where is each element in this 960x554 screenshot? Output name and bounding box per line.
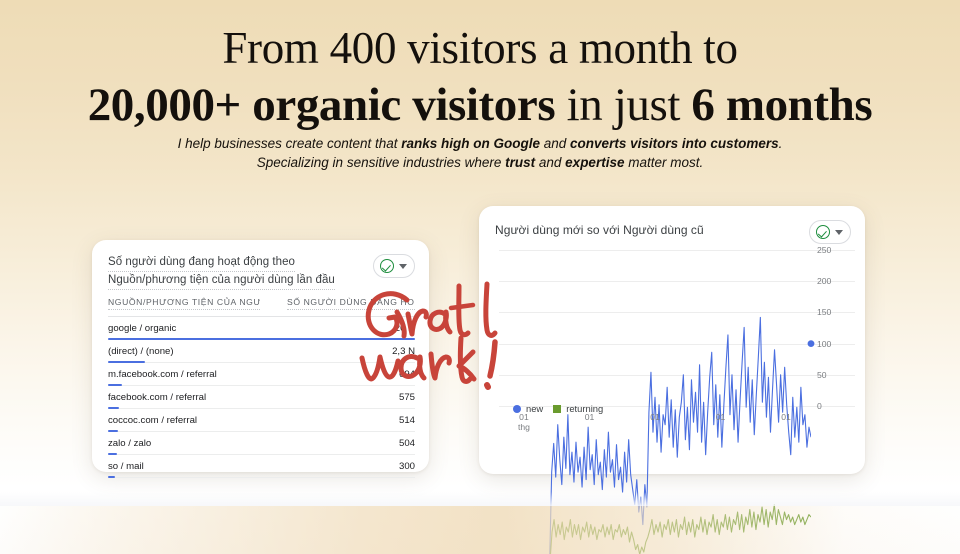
subheading-line-1: I help businesses create content that ra…	[0, 134, 960, 153]
y-axis-tick-label: 50	[817, 370, 851, 380]
sub1-e: .	[779, 136, 783, 151]
left-card-title-line-2: Nguồn/phương tiện của người dùng lần đầu	[108, 272, 335, 290]
chart-legend: new returning	[513, 403, 603, 414]
chevron-down-icon[interactable]	[399, 264, 407, 269]
row-label: google / organic	[108, 323, 176, 334]
circle-check-icon	[816, 225, 830, 239]
table-row[interactable]: coccoc.com / referral514	[108, 409, 415, 432]
x-axis-tick-label: 01thg	[518, 412, 530, 432]
row-label: so / mail	[108, 461, 144, 472]
sub1-a: I help businesses create content that	[178, 136, 402, 151]
page-background: From 400 visitors a month to 20,000+ org…	[0, 0, 960, 554]
row-value: 504	[399, 438, 415, 449]
circle-check-icon	[380, 259, 394, 273]
sub2-e: matter most.	[624, 155, 703, 170]
row-bar	[108, 476, 115, 478]
table-row[interactable]: so / mail300	[108, 455, 415, 478]
table-row[interactable]: zalo / zalo504	[108, 432, 415, 455]
y-axis-tick-label: 200	[817, 276, 851, 286]
column-header-dimension[interactable]: NGUỒN/PHƯƠNG TIỆN CỦA NGƯ…	[108, 297, 260, 310]
subheading-line-2: Specializing in sensitive industries whe…	[0, 153, 960, 172]
x-axis-tick-label: 01	[716, 412, 726, 422]
row-label: zalo / zalo	[108, 438, 151, 449]
right-card-status-pill[interactable]	[809, 220, 851, 244]
legend-item-returning[interactable]: returning	[553, 403, 603, 414]
y-axis-tick-label: 100	[817, 339, 851, 349]
row-value: 514	[399, 415, 415, 426]
headline-line-1: From 400 visitors a month to	[0, 20, 960, 76]
bottom-band-fade	[0, 492, 960, 506]
chevron-down-icon[interactable]	[835, 230, 843, 235]
left-card-title: Số người dùng đang hoạt động theo Nguồn/…	[108, 254, 335, 290]
sub2-a: Specializing in sensitive industries whe…	[257, 155, 505, 170]
row-divider	[108, 477, 415, 478]
row-label: (direct) / (none)	[108, 346, 174, 357]
y-axis-tick-label: 150	[817, 307, 851, 317]
y-axis-tick-label: 0	[817, 401, 851, 411]
legend-swatch-new	[513, 405, 521, 413]
handwritten-great-work-annotation	[355, 278, 555, 403]
y-axis-tick-label: 250	[817, 245, 851, 255]
left-card-title-line-1: Số người dùng đang hoạt động theo	[108, 254, 295, 272]
bottom-accent-band	[0, 506, 960, 554]
sub2-bold-expertise: expertise	[565, 155, 624, 170]
row-value: 300	[399, 461, 415, 472]
headline-emphasis-months: 6 months	[691, 79, 872, 131]
headline-line-2: 20,000+ organic visitors in just 6 month…	[0, 76, 960, 134]
legend-label-new: new	[526, 403, 543, 414]
end-marker-new	[808, 340, 815, 347]
right-card-header: Người dùng mới so với Người dùng cũ	[479, 206, 865, 244]
x-axis-tick-label: 01	[650, 412, 660, 422]
row-label: facebook.com / referral	[108, 392, 206, 403]
headline-connector: in just	[555, 79, 691, 131]
sub2-bold-trust: trust	[505, 155, 535, 170]
row-label: m.facebook.com / referral	[108, 369, 217, 380]
sub1-bold-google: ranks high on Google	[401, 136, 540, 151]
x-axis-tick-label: 01	[781, 412, 791, 422]
hero-subheading: I help businesses create content that ra…	[0, 134, 960, 172]
right-card-title: Người dùng mới so với Người dùng cũ	[495, 220, 704, 238]
sub2-c: and	[535, 155, 565, 170]
sub1-c: and	[540, 136, 570, 151]
headline-emphasis-visitors: 20,000+ organic visitors	[88, 79, 556, 131]
legend-label-returning: returning	[566, 403, 603, 414]
right-card-title-text: Người dùng mới so với Người dùng cũ	[495, 223, 704, 237]
row-label: coccoc.com / referral	[108, 415, 197, 426]
left-card-status-pill[interactable]	[373, 254, 415, 278]
hero-headline: From 400 visitors a month to 20,000+ org…	[0, 20, 960, 134]
legend-item-new[interactable]: new	[513, 403, 543, 414]
sub1-bold-converts: converts visitors into customers	[570, 136, 779, 151]
legend-swatch-returning	[553, 405, 561, 413]
